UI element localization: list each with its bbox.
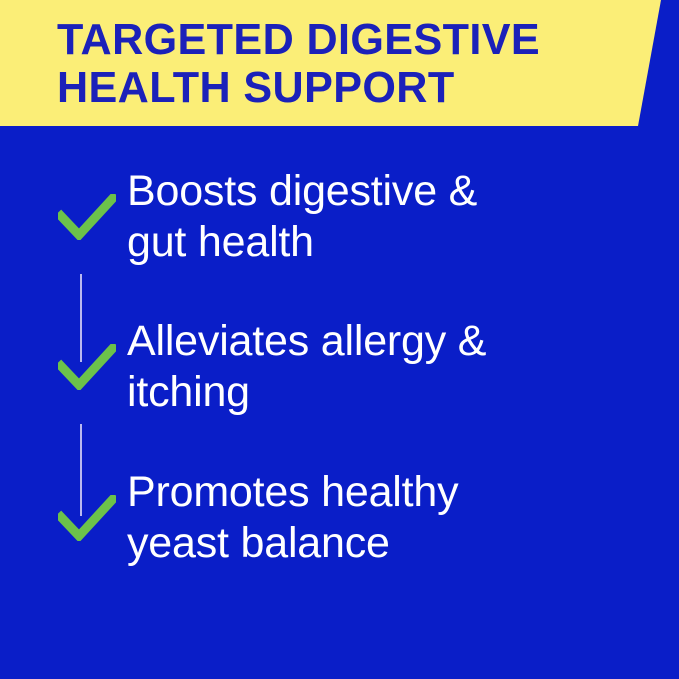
product-benefits-panel: TARGETED DIGESTIVE HEALTH SUPPORT Boosts…: [0, 0, 679, 679]
benefit-label: Alleviates allergy & itching: [127, 316, 679, 418]
benefits-list: Boosts digestive & gut health Alleviates…: [0, 126, 679, 679]
benefit-item-2: Alleviates allergy & itching: [0, 316, 679, 436]
check-icon: [58, 344, 116, 390]
header-banner: TARGETED DIGESTIVE HEALTH SUPPORT: [0, 0, 679, 126]
check-cell-3: [0, 467, 127, 587]
check-cell-1: [0, 166, 127, 286]
check-cell-2: [0, 316, 127, 436]
benefit-label: Boosts digestive & gut health: [127, 166, 679, 268]
benefit-item-3: Promotes healthy yeast balance: [0, 467, 679, 587]
page-title: TARGETED DIGESTIVE HEALTH SUPPORT: [57, 16, 625, 112]
check-icon: [58, 194, 116, 240]
check-icon: [58, 495, 116, 541]
benefit-item-1: Boosts digestive & gut health: [0, 166, 679, 286]
benefit-label: Promotes healthy yeast balance: [127, 467, 679, 569]
